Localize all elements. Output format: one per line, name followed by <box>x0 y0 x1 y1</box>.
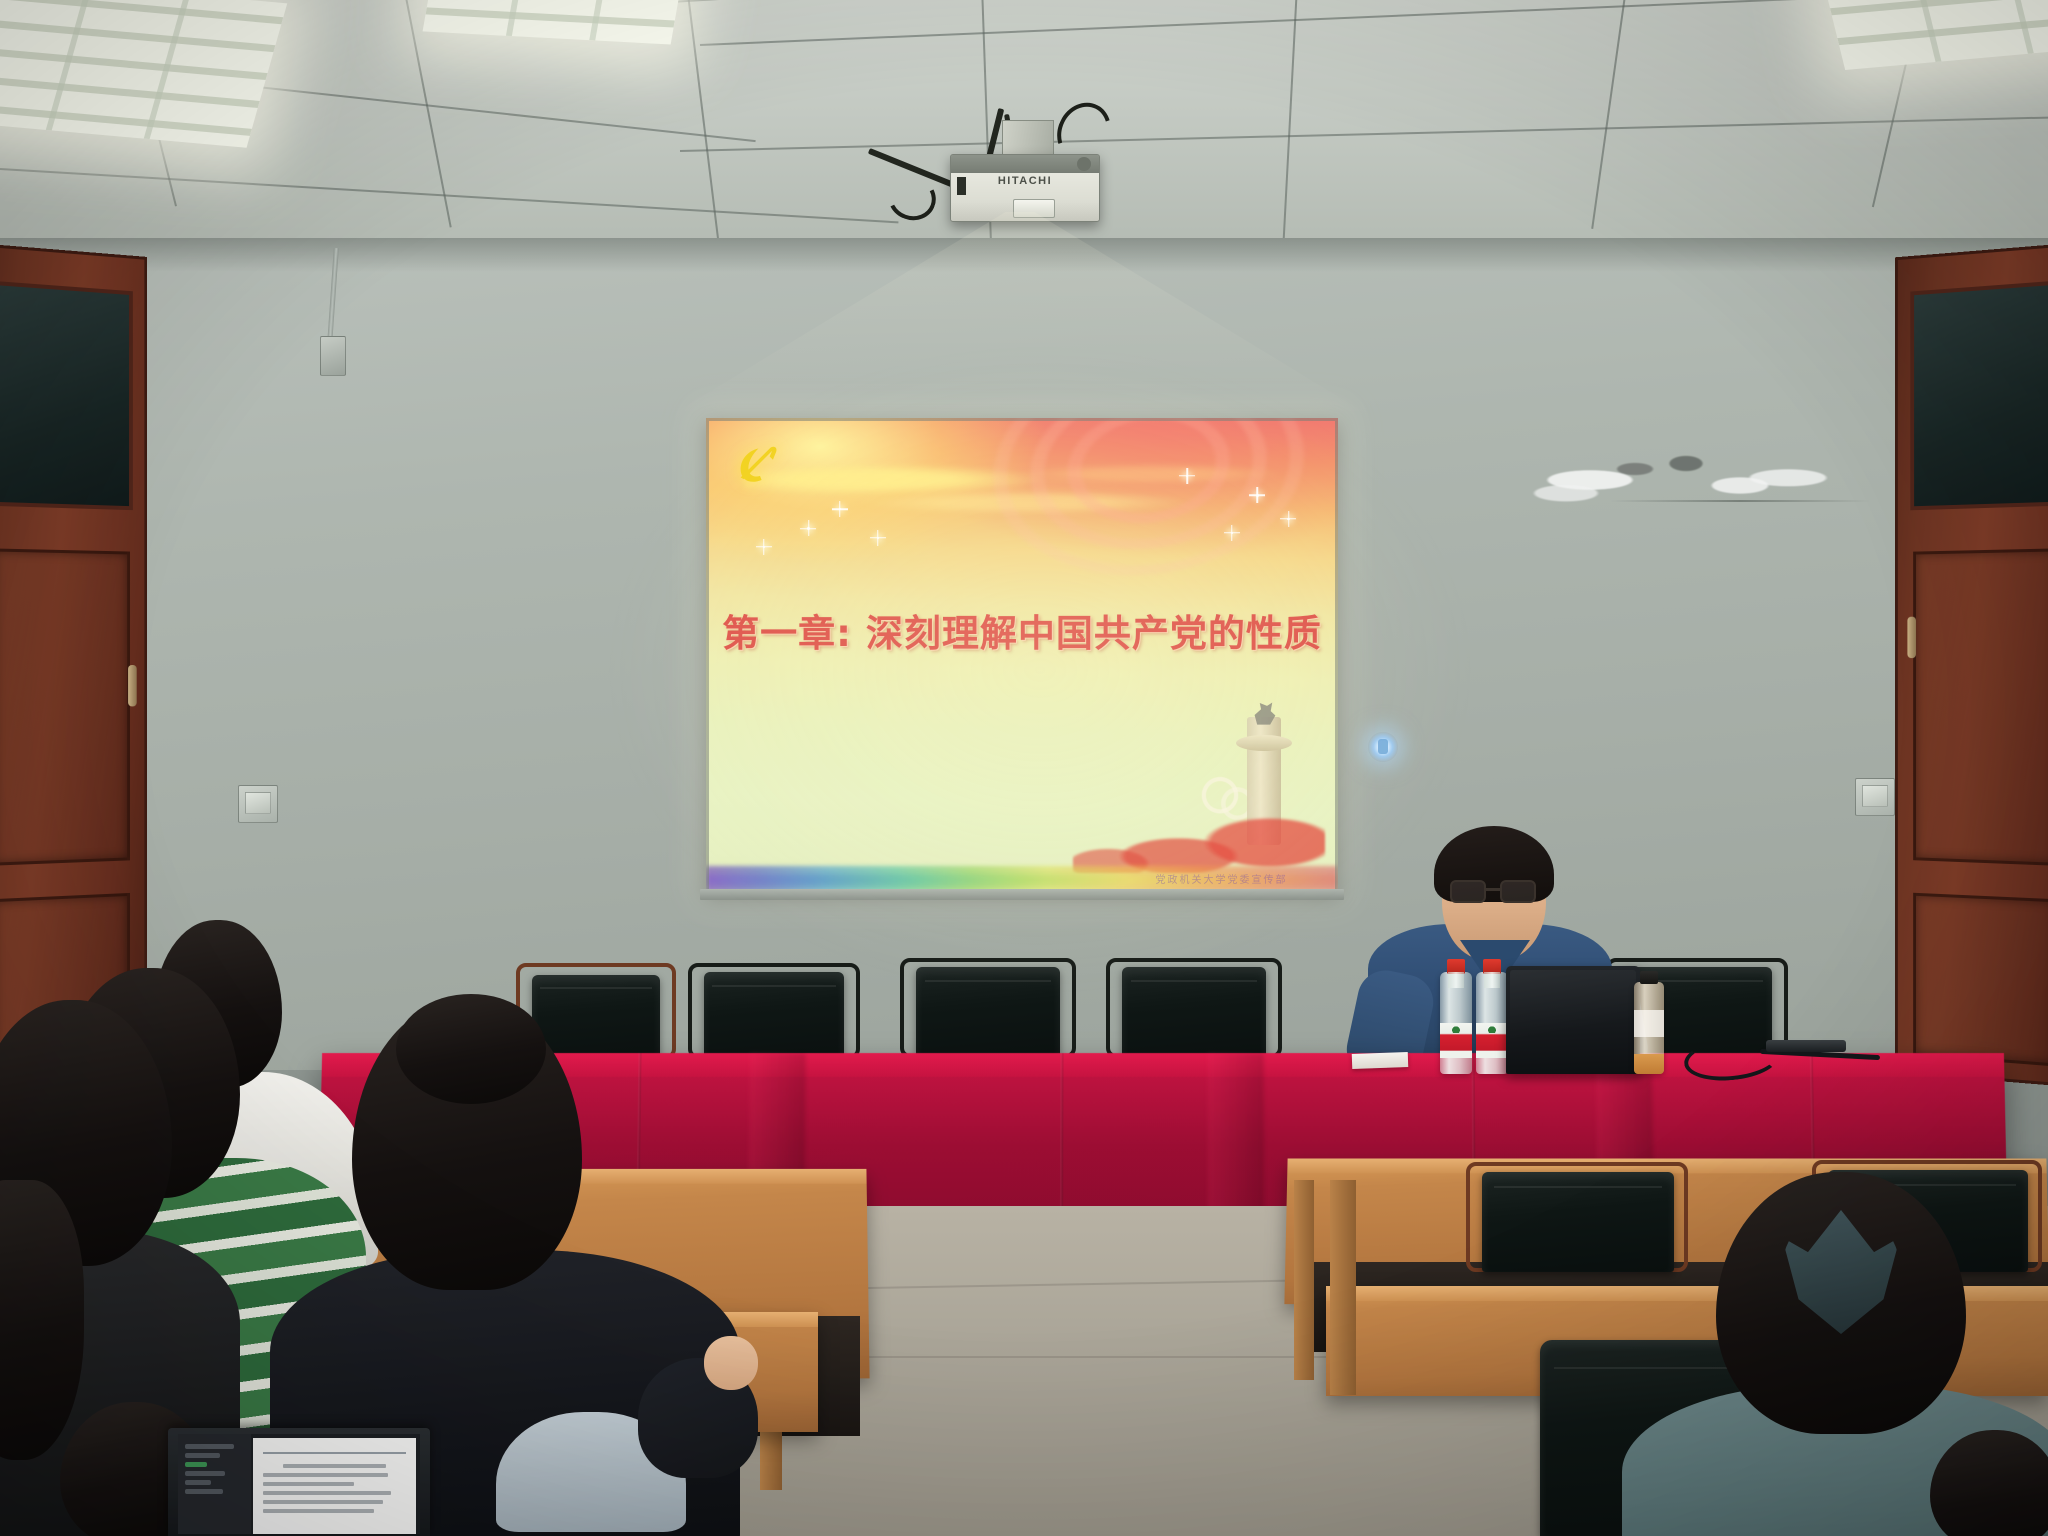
wall-junction-box <box>320 336 346 376</box>
projector-brand-label: HITACHI <box>951 175 1099 187</box>
tea-bottle[interactable] <box>1634 982 1664 1074</box>
door-panel-upper <box>1913 548 2048 866</box>
water-bottle-1[interactable] <box>1440 972 1472 1074</box>
light-switch-left[interactable] <box>238 785 278 823</box>
red-ribbon-motif <box>1073 797 1326 873</box>
ceiling-light-panel <box>423 0 688 44</box>
wall-tape-marks <box>1530 425 1830 535</box>
slide-watermark: 党政机关大学党委宣传部 <box>1155 871 1287 886</box>
hammer-and-sickle-icon <box>734 442 786 484</box>
bottle-neck <box>1448 972 1463 988</box>
sparkle-decoration <box>1256 494 1259 497</box>
light-switch-right[interactable] <box>1855 778 1895 816</box>
bottle-neck <box>1484 972 1499 988</box>
sparkle-decoration <box>763 546 765 548</box>
presenter-laptop[interactable] <box>1506 966 1640 1074</box>
door-transom-glass <box>0 281 133 511</box>
slide-background: 第一章: 深刻理解中国共产党的性质 党政机关大学党委宣传部 <box>706 418 1338 892</box>
door-handle[interactable] <box>1907 616 1916 657</box>
tea-bottle-cap <box>1640 971 1658 984</box>
projector-lens <box>1013 199 1055 218</box>
door-transom-glass <box>1910 280 2048 511</box>
door-panel-upper <box>0 548 130 865</box>
laptop-document-page <box>253 1438 416 1533</box>
eyeglasses-bridge <box>1486 888 1501 891</box>
ceiling-light-panel <box>1820 0 2048 70</box>
desk-leg <box>1330 1180 1356 1395</box>
bottle-label <box>1476 1023 1508 1058</box>
laptop-sidebar <box>178 1434 250 1533</box>
student-laptop[interactable] <box>168 1428 430 1536</box>
ceiling-light-panel <box>0 0 287 148</box>
slide-title: 第一章: 深刻理解中国共产党的性质 <box>706 603 1338 657</box>
sparkle-decoration <box>839 508 841 510</box>
student-hair <box>1930 1430 2048 1536</box>
tea-liquid <box>1634 1054 1664 1074</box>
sparkle-decoration <box>1287 518 1290 521</box>
chair-back-2[interactable] <box>704 972 844 1062</box>
eyeglasses-right-lens <box>1500 880 1536 903</box>
desk-leg <box>1294 1180 1314 1380</box>
student-hair-bun <box>396 994 546 1104</box>
projection-screen: 第一章: 深刻理解中国共产党的性质 党政机关大学党委宣传部 <box>706 418 1338 892</box>
student-laptop-screen <box>178 1434 419 1533</box>
door-panel-lower <box>1913 892 2048 1066</box>
paper-slip[interactable] <box>1352 1052 1408 1069</box>
sparkle-decoration <box>1231 532 1233 534</box>
water-bottle-2[interactable] <box>1476 972 1508 1074</box>
projector-body: HITACHI <box>950 154 1100 222</box>
door-handle[interactable] <box>128 665 137 706</box>
ceiling-projector: HITACHI <box>950 120 1110 230</box>
screen-bottom-rail <box>700 889 1344 900</box>
wall-crack <box>1610 500 1870 502</box>
bottle-label <box>1440 1023 1472 1058</box>
wall-ceiling-shadow <box>0 238 2048 272</box>
chair-back-4[interactable] <box>1122 967 1266 1061</box>
blue-led-indicator <box>1368 732 1398 762</box>
student-hand <box>704 1336 758 1390</box>
door-right[interactable] <box>1895 242 2048 1087</box>
projector-top-bar <box>951 155 1099 173</box>
chair-back-3[interactable] <box>916 967 1060 1061</box>
microphone-base[interactable] <box>1766 1040 1846 1052</box>
eyeglasses-left-lens <box>1450 880 1486 903</box>
projector-knob <box>1077 157 1091 171</box>
sparkle-decoration <box>877 537 880 540</box>
student-partial-right <box>1930 1430 2048 1536</box>
classroom-scene: HITACHI 第一章: <box>0 0 2048 1536</box>
tea-bottle-label <box>1634 1010 1664 1038</box>
sparkle-decoration <box>1186 475 1188 477</box>
